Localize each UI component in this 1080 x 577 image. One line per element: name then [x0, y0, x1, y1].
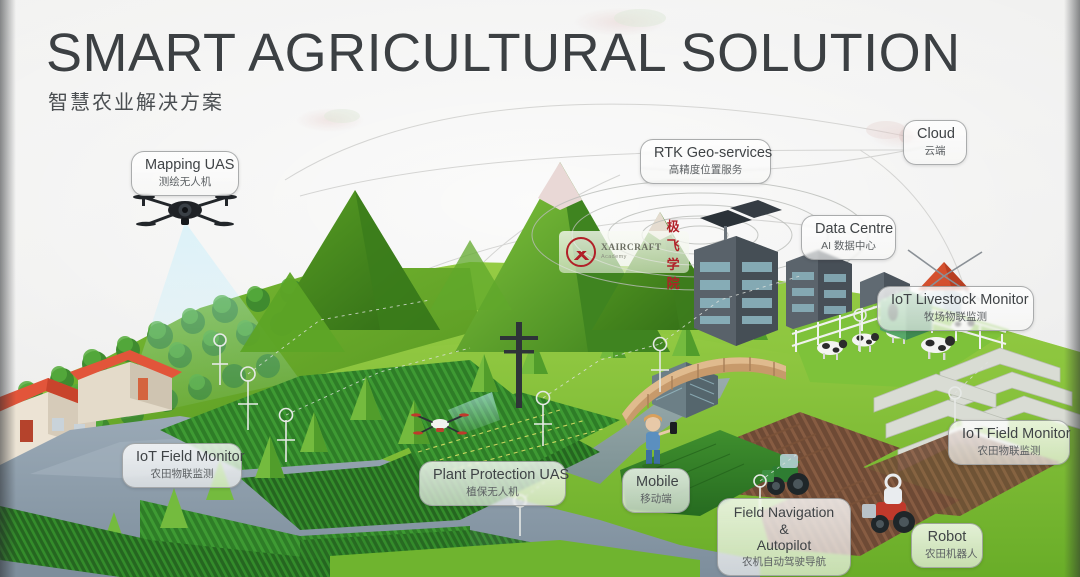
right-edge-shadow: [1064, 0, 1080, 577]
label-en-line2: Autopilot: [731, 537, 837, 554]
label-en: Cloud: [917, 126, 953, 143]
label-en-line1: Field Navigation &: [731, 504, 837, 537]
label-cn: 测绘无人机: [145, 175, 225, 189]
label-en: IoT Field Monitor: [136, 449, 228, 466]
left-edge-shadow: [0, 0, 16, 577]
label-cn: 农田机器人: [925, 547, 969, 561]
brand-name-cn: 极飞学院: [667, 216, 683, 292]
label-cn: 云端: [917, 144, 953, 158]
label-en: Data Centre: [815, 221, 882, 238]
xaircraft-logo-badge: XAIRCRAFT Academy 极飞学院: [559, 231, 689, 273]
label-en: Mapping UAS: [145, 157, 225, 174]
label-cn: 农田物联监测: [962, 444, 1056, 458]
label-en: RTK Geo-services: [654, 145, 757, 162]
page-title: SMART AGRICULTURAL SOLUTION: [46, 22, 961, 84]
label-iot-field-monitor-right[interactable]: IoT Field Monitor农田物联监测: [948, 420, 1070, 465]
label-mobile[interactable]: Mobile移动端: [622, 468, 690, 513]
brand-name-en: XAIRCRAFT: [601, 244, 662, 254]
brand-name-sub: Academy: [601, 255, 662, 261]
page-subtitle: 智慧农业解决方案: [48, 86, 224, 115]
label-iot-field-monitor-left[interactable]: IoT Field Monitor农田物联监测: [122, 443, 242, 488]
label-data-centre[interactable]: Data CentreAI 数据中心: [801, 215, 896, 260]
label-en: IoT Livestock Monitor: [891, 292, 1020, 309]
label-cn: 农机自动驾驶导航: [731, 555, 837, 569]
label-cn: 农田物联监测: [136, 467, 228, 481]
label-cn: 高精度位置服务: [654, 163, 757, 177]
label-cn: AI 数据中心: [815, 239, 882, 253]
label-cn: 移动端: [636, 492, 676, 506]
label-cn: 植保无人机: [433, 485, 552, 499]
label-en: Mobile: [636, 474, 676, 491]
label-plant-protection-uas[interactable]: Plant Protection UAS植保无人机: [419, 461, 566, 506]
xaircraft-mountain-icon: [566, 237, 596, 267]
label-en: IoT Field Monitor: [962, 426, 1056, 443]
label-mapping-uas[interactable]: Mapping UAS测绘无人机: [131, 151, 239, 196]
mapping-drone: [133, 195, 237, 227]
label-rtk-geo-services[interactable]: RTK Geo-services高精度位置服务: [640, 139, 771, 184]
label-cn: 牧场物联监测: [891, 310, 1020, 324]
label-en: Plant Protection UAS: [433, 467, 552, 484]
infographic-canvas: SMART AGRICULTURAL SOLUTION 智慧农业解决方案 XAI…: [0, 0, 1080, 577]
label-iot-livestock-monitor[interactable]: IoT Livestock Monitor牧场物联监测: [877, 286, 1034, 331]
label-field-navigation-autopilot[interactable]: Field Navigation &Autopilot农机自动驾驶导航: [717, 498, 851, 576]
label-cloud[interactable]: Cloud云端: [903, 120, 967, 165]
label-en: Robot: [925, 529, 969, 546]
label-robot[interactable]: Robot农田机器人: [911, 523, 983, 568]
